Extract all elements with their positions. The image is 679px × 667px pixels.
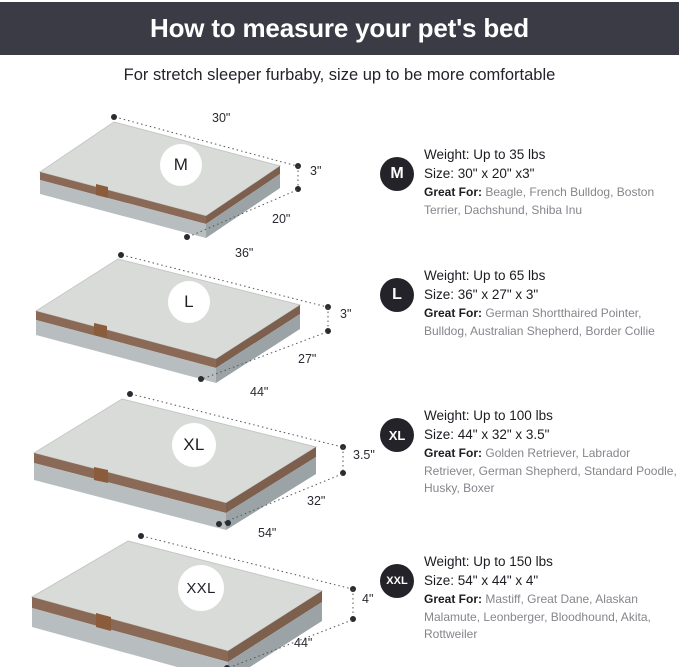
- bed-illustration-m: M 30" 3" 20": [0, 104, 380, 239]
- size-line-xl: Size: 44" x 32" x 3.5": [424, 425, 679, 444]
- size-badge-l: L: [380, 278, 414, 312]
- dim-width-xxl: 54": [258, 526, 276, 540]
- great-for-label-xl: Great For:: [424, 446, 482, 460]
- weight-line-xl: Weight: Up to 100 lbs: [424, 406, 679, 425]
- dim-width-xl: 44": [250, 385, 268, 399]
- dimension-guides-xxl: [0, 519, 380, 667]
- size-row-m: M 30" 3" 20" M Weight: Up to 35 lbs Size…: [0, 104, 679, 239]
- size-line-l: Size: 36" x 27" x 3": [424, 285, 679, 304]
- size-badge-xl: XL: [380, 418, 414, 452]
- size-row-xxl: XXL 54" 4" 44" XXL Weight: Up to 150 lbs…: [0, 519, 679, 667]
- dim-width-l: 36": [235, 246, 253, 260]
- weight-line-xxl: Weight: Up to 150 lbs: [424, 552, 679, 571]
- weight-line-m: Weight: Up to 35 lbs: [424, 145, 679, 164]
- great-for-line-l: Great For: German Shortthaired Pointer, …: [424, 305, 679, 340]
- bed-illustration-l: L 36" 3" 27": [0, 239, 380, 379]
- pet-bed-size-guide: How to measure your pet's bed For stretc…: [0, 0, 679, 667]
- subtitle: For stretch sleeper furbaby, size up to …: [0, 66, 679, 85]
- bed-illustration-xxl: XXL 54" 4" 44": [0, 519, 380, 667]
- size-row-l: L 36" 3" 27" L Weight: Up to 65 lbs Size…: [0, 239, 679, 379]
- size-info-xl: XL Weight: Up to 100 lbs Size: 44" x 32"…: [380, 405, 679, 497]
- dim-height-l: 3": [340, 307, 351, 321]
- dim-height-xxl: 4": [362, 592, 373, 606]
- great-for-label-xxl: Great For:: [424, 592, 482, 606]
- size-info-xxl: XXL Weight: Up to 150 lbs Size: 54" x 44…: [380, 551, 679, 643]
- dim-depth-l: 27": [298, 352, 316, 366]
- dim-width-m: 30": [212, 111, 230, 125]
- size-line-m: Size: 30" x 20" x3": [424, 164, 679, 183]
- great-for-line-xl: Great For: Golden Retriever, Labrador Re…: [424, 445, 679, 497]
- dim-height-xl: 3.5": [353, 448, 375, 462]
- great-for-line-xxl: Great For: Mastiff, Great Dane, Alaskan …: [424, 591, 679, 643]
- dim-depth-m: 20": [272, 212, 290, 226]
- dimension-guides-l: [0, 239, 380, 384]
- size-line-xxl: Size: 54" x 44" x 4": [424, 571, 679, 590]
- page-title: How to measure your pet's bed: [150, 13, 529, 44]
- weight-line-l: Weight: Up to 65 lbs: [424, 266, 679, 285]
- dim-depth-xl: 32": [307, 494, 325, 508]
- dim-height-m: 3": [310, 164, 321, 178]
- great-for-label-l: Great For:: [424, 306, 482, 320]
- header-bar: How to measure your pet's bed: [0, 2, 679, 55]
- great-for-label-m: Great For:: [424, 185, 482, 199]
- size-badge-m: M: [380, 157, 414, 191]
- dim-depth-xxl: 44": [294, 636, 312, 650]
- size-badge-xxl: XXL: [380, 564, 414, 598]
- size-info-l: L Weight: Up to 65 lbs Size: 36" x 27" x…: [380, 265, 679, 340]
- dimension-guides-m: [0, 104, 380, 244]
- bed-illustration-xl: XL 44" 3.5" 32": [0, 379, 380, 519]
- size-row-xl: XL 44" 3.5" 32" XL Weight: Up to 100 lbs…: [0, 379, 679, 519]
- size-info-m: M Weight: Up to 35 lbs Size: 30" x 20" x…: [380, 144, 679, 219]
- great-for-line-m: Great For: Beagle, French Bulldog, Bosto…: [424, 184, 679, 219]
